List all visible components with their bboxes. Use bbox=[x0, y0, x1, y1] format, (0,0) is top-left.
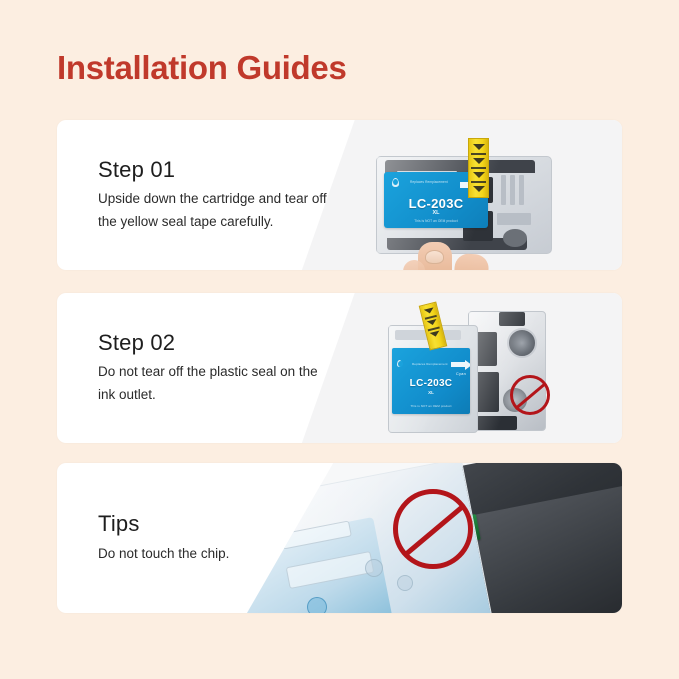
cartridge-vent-ring bbox=[507, 328, 537, 358]
ink-drop-icon bbox=[392, 178, 399, 187]
label-micro-top-02: Replaces Remplacement bbox=[412, 362, 448, 366]
prohibition-icon bbox=[510, 375, 550, 415]
cartridge-label: Replaces Remplacement Cyan LC-203C XL Th… bbox=[392, 348, 470, 414]
label-xl-01: XL bbox=[384, 210, 488, 216]
tips-title: Tips bbox=[98, 511, 357, 537]
label-code-01: LC-203C bbox=[384, 196, 488, 211]
label-xl-02: XL bbox=[392, 390, 470, 395]
card-text-block-step-01: Step 01 Upside down the cartridge and te… bbox=[57, 120, 357, 270]
step-description-01: Upside down the cartridge and tear off t… bbox=[98, 188, 328, 233]
label-micro-bottom-01: This is NOT an OEM product bbox=[384, 219, 488, 223]
installation-guides-page: Installation Guides Step 01 Upside down … bbox=[0, 0, 679, 679]
prohibition-icon bbox=[393, 489, 473, 569]
step-title-01: Step 01 bbox=[98, 157, 357, 183]
yellow-seal-tape-icon bbox=[468, 138, 489, 198]
ink-cartridge-angled: Replaces Remplacement Cyan LC-203C XL Th… bbox=[388, 303, 568, 438]
step-title-02: Step 02 bbox=[98, 330, 357, 356]
guide-card-step-02: Step 02 Do not tear off the plastic seal… bbox=[57, 293, 622, 443]
ink-drop-icon bbox=[397, 360, 402, 367]
step-description-02: Do not tear off the plastic seal on the … bbox=[98, 361, 328, 406]
ink-cartridge-front: Replaces Remplacement Cyan LC-203C XL Th… bbox=[370, 138, 560, 263]
label-color-name-02: Cyan bbox=[456, 371, 466, 376]
guide-card-tips: Tips Do not touch the chip. bbox=[57, 463, 622, 613]
hand-holding-cartridge bbox=[404, 234, 524, 270]
card-text-block-tips: Tips Do not touch the chip. bbox=[57, 463, 357, 613]
arrow-icon bbox=[451, 362, 466, 367]
label-micro-top-01: Replaces Remplacement bbox=[410, 180, 448, 184]
label-code-02: LC-203C bbox=[392, 378, 470, 389]
label-micro-bottom-02: This is NOT an OEM product bbox=[392, 404, 470, 408]
guide-card-step-01: Step 01 Upside down the cartridge and te… bbox=[57, 120, 622, 270]
tips-description: Do not touch the chip. bbox=[98, 543, 328, 565]
page-title: Installation Guides bbox=[57, 47, 347, 88]
card-text-block-step-02: Step 02 Do not tear off the plastic seal… bbox=[57, 293, 357, 443]
